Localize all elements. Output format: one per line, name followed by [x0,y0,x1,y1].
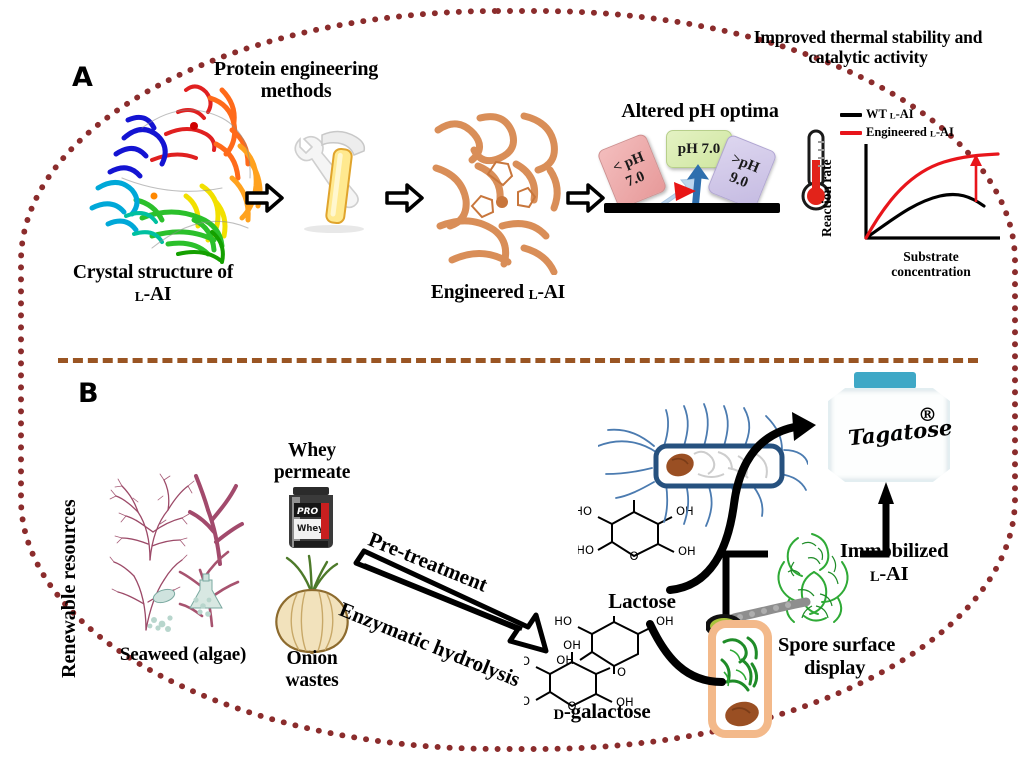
series-wt-curve [866,194,984,238]
onion-caption-line2: wastes [286,670,339,691]
legend-swatch-engineered [840,131,862,135]
engineered-lai-caption: Engineered L-AI [398,282,598,304]
whey-protein-tub-image: PRO Whey [281,485,341,550]
immobilized-smallcap: L [870,569,879,585]
crystal-caption-smallcap: L [135,289,144,304]
registered-trademark-icon: ® [918,404,937,426]
immobilized-lai-caption: Immobilized L-AI [840,540,1030,586]
svg-text:HO: HO [578,504,592,518]
improved-title-line1: Improved thermal stability and [754,27,982,47]
method-title-line2: methods [261,80,332,102]
process-arrow-2-icon [385,183,425,213]
crystal-caption-line1: Crystal structure of [73,262,233,283]
whey-caption-line1: Whey [288,440,336,461]
legend-label-engineered: Engineered [866,125,927,139]
improved-title-line2: catalytic activity [808,47,927,67]
onion-caption-line1: Onion [286,648,337,669]
svg-text:OH: OH [556,653,574,667]
improved-stability-title: Improved thermal stability and catalytic… [718,28,1018,67]
panel-divider [58,358,978,363]
engineered-caption-text: Engineered [431,282,524,303]
svg-text:HO: HO [578,543,594,557]
improvement-arrow-icon [970,154,982,202]
engineered-caption-smallcap: L [529,287,538,302]
whey-caption-line2: permeate [274,462,350,483]
ph-mid-label: pH 7.0 [678,141,721,158]
crystal-caption-line2: -AI [144,284,172,305]
graphical-abstract-figure: A [0,0,1036,764]
legend-item-engineered: Engineered L-AI [840,125,954,140]
immobilized-line1: Immobilized [840,540,948,562]
spore-caption-line1: Spore surface [778,634,895,656]
chart-y-axis-label: Reaction rate [820,150,854,246]
jar-cap [854,372,916,389]
ph-optima-title: Altered pH optima [595,100,805,122]
reaction-rate-chart [852,140,1004,252]
panel-b-label: B [78,378,99,409]
process-arrow-3-icon [566,183,606,213]
whey-permeate-caption: Whey permeate [252,440,372,484]
ph-baseline [604,203,780,213]
method-title-line1: Protein engineering [214,58,378,80]
y-label-line2: rate [819,159,834,182]
chart-x-axis-label: Substrate concentration [856,250,1006,280]
x-label-line1: Substrate [903,249,959,264]
legend-suffix-engineered: -AI [936,125,954,139]
process-arrow-1-icon [245,183,285,213]
galactose-label: D-galactose [512,700,692,724]
svg-text:HO: HO [554,616,572,628]
engineered-lai-structure-image [432,110,566,275]
y-label-line1: Reaction [819,186,834,237]
tagatose-jar: Tagatose ® [818,372,968,482]
galactose-flow-arrow-icon [646,616,736,702]
legend-suffix-wt: -AI [896,107,914,121]
engineered-caption-suffix: -AI [538,282,566,303]
whey-tub-name: Whey [297,524,324,534]
svg-text:OH: OH [563,638,581,652]
legend-item-wt: WT L-AI [840,107,914,122]
seaweed-caption: Seaweed (algae) [98,644,268,665]
svg-text:HO: HO [524,654,530,668]
spore-surface-display-caption: Spore surface display [778,634,978,680]
svg-text:O: O [629,549,638,563]
immobilized-suffix: -AI [879,563,908,585]
galactose-smallcap: D [553,707,563,723]
protein-engineering-title: Protein engineering methods [186,58,406,103]
renewable-resources-label: Renewable resources [58,468,81,678]
crystal-structure-caption: Crystal structure of L-AI [28,262,278,306]
legend-label-wt: WT [866,107,887,121]
x-label-line2: concentration [891,264,970,279]
spore-caption-line2: display [778,657,865,679]
seaweed-algae-image [108,468,253,638]
svg-text:O: O [617,665,626,679]
legend-swatch-wt [840,113,862,117]
whey-tub-brand: PRO [297,507,319,517]
engineering-tools-icon [282,125,378,235]
galactose-label-text: -galactose [564,699,651,723]
